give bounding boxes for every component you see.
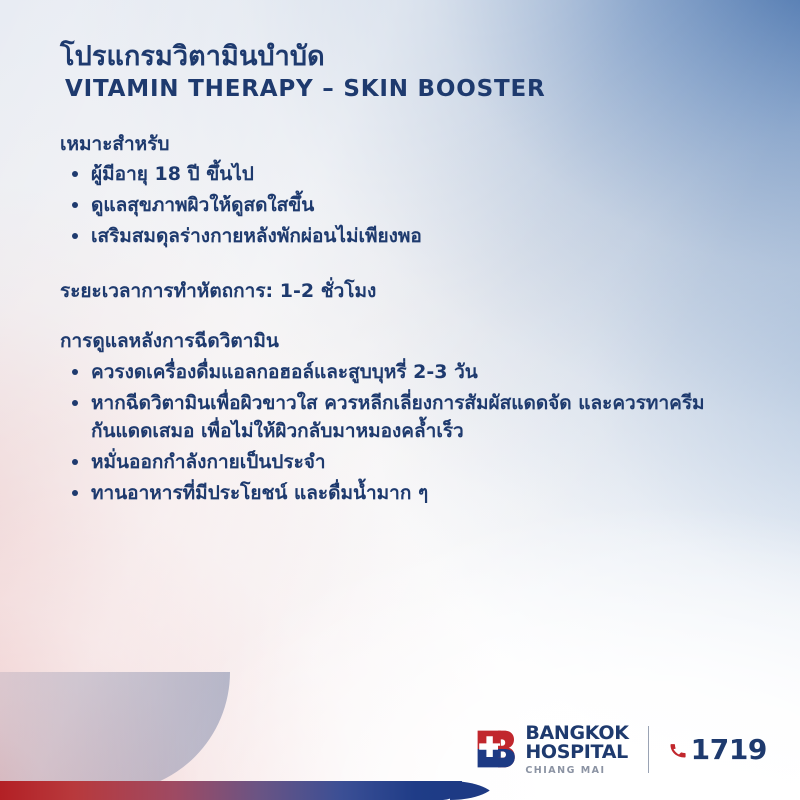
list-item: ดูแลสุขภาพผิวให้ดูสดใสขึ้น — [60, 191, 760, 220]
footer-bar: BANGKOK HOSPITAL CHIANG MAI 1719 — [476, 724, 767, 775]
bangkok-hospital-logo-icon — [476, 729, 516, 769]
aftercare-heading: การดูแลหลังการฉีดวิตามิน — [60, 327, 760, 356]
page-title-thai: โปรแกรมวิตามินบำบัด — [60, 40, 760, 74]
list-item: หมั่นออกกำลังกายเป็นประจำ — [60, 448, 760, 477]
section-suitable-for: เหมาะสำหรับ ผู้มีอายุ 18 ปี ขึ้นไป ดูแลส… — [60, 130, 760, 251]
brand-location: CHIANG MAI — [525, 766, 628, 776]
duration-text: ระยะเวลาการทำหัตถการ: 1-2 ชั่วโมง — [60, 277, 760, 306]
section-aftercare: การดูแลหลังการฉีดวิตามิน ควรงดเครื่องดื่… — [60, 327, 760, 508]
brand-lockup: BANGKOK HOSPITAL CHIANG MAI — [476, 724, 628, 775]
footer-divider — [648, 726, 649, 773]
list-item: ทานอาหารที่มีประโยชน์ และดื่มน้ำมาก ๆ — [60, 479, 760, 508]
list-item: หากฉีดวิตามินเพื่อผิวขาวใส ควรหลีกเลี่ยง… — [60, 389, 760, 447]
phone-icon — [668, 740, 688, 760]
brand-wordmark: BANGKOK HOSPITAL CHIANG MAI — [525, 724, 628, 775]
brand-name-line-2: HOSPITAL — [525, 743, 628, 762]
section-duration: ระยะเวลาการทำหัตถการ: 1-2 ชั่วโมง — [60, 277, 760, 306]
page-title-english: VITAMIN THERAPY – SKIN BOOSTER — [65, 75, 760, 104]
bottom-accent-bar — [0, 781, 462, 800]
list-item: เสริมสมดุลร่างกายหลังพักผ่อนไม่เพียงพอ — [60, 222, 760, 251]
poster-canvas: โปรแกรมวิตามินบำบัด VITAMIN THERAPY – SK… — [0, 0, 800, 800]
decorative-navy-swoosh — [0, 672, 230, 792]
suitable-for-heading: เหมาะสำหรับ — [60, 130, 760, 159]
list-item: ผู้มีอายุ 18 ปี ขึ้นไป — [60, 160, 760, 189]
suitable-for-list: ผู้มีอายุ 18 ปี ขึ้นไป ดูแลสุขภาพผิวให้ด… — [60, 160, 760, 251]
hotline-number: 1719 — [691, 733, 767, 766]
list-item: ควรงดเครื่องดื่มแอลกอฮอล์และสูบบุหรี่ 2-… — [60, 358, 760, 387]
poster-content: โปรแกรมวิตามินบำบัด VITAMIN THERAPY – SK… — [60, 40, 760, 510]
aftercare-list: ควรงดเครื่องดื่มแอลกอฮอล์และสูบบุหรี่ 2-… — [60, 358, 760, 508]
hotline-block[interactable]: 1719 — [668, 733, 767, 766]
